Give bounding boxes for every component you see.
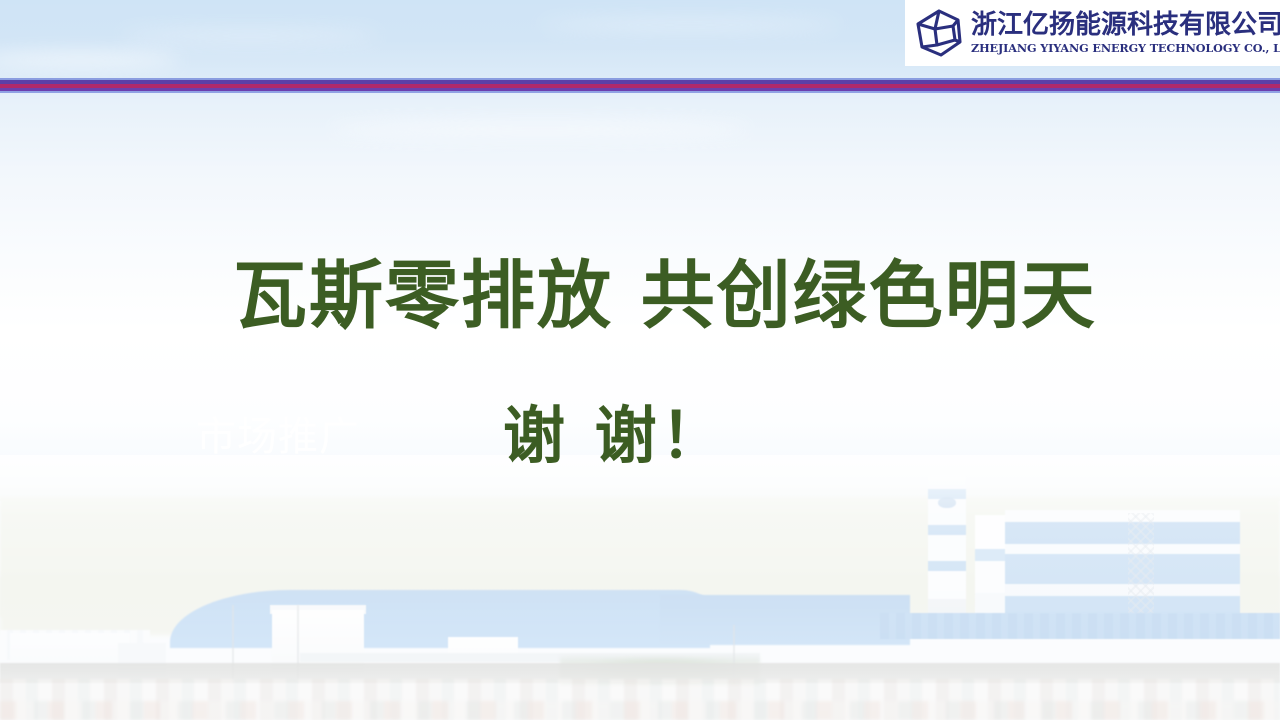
slide-canvas: 浙江亿扬能源科技有限公司 ZHEJIANG YIYANG ENERGY TECH… xyxy=(0,0,1280,720)
slide-title-main: 瓦斯零排放 共创绿色明天 xyxy=(233,259,1097,333)
lattice-tower xyxy=(1128,513,1154,629)
industrial-plant-photo xyxy=(0,455,1280,720)
conveyor-pipe-rack xyxy=(880,613,1280,639)
blue-factory-hall-secondary xyxy=(660,595,910,645)
cloud-wisp xyxy=(330,120,750,138)
company-name-cn: 浙江亿扬能源科技有限公司 xyxy=(971,12,1280,38)
company-name-group: 浙江亿扬能源科技有限公司 ZHEJIANG YIYANG ENERGY TECH… xyxy=(971,12,1280,54)
slide-title-thanks: 谢 谢！ xyxy=(503,405,727,467)
material-yard-foreground xyxy=(0,701,1280,720)
plant-main-building xyxy=(1005,510,1240,620)
stripe-blue-bottom xyxy=(0,91,1280,93)
striped-chimney-tower xyxy=(928,475,966,615)
cloud-wisp xyxy=(540,18,840,32)
watermark-text: 市场推广 xyxy=(196,404,360,462)
blue-factory-hall xyxy=(170,590,710,648)
hexagon-crystal-logo-icon xyxy=(913,7,965,59)
cloud-wisp xyxy=(120,30,380,42)
header-stripe-bar xyxy=(0,78,1280,93)
chimney-logo-mark xyxy=(938,497,956,508)
company-logo-panel: 浙江亿扬能源科技有限公司 ZHEJIANG YIYANG ENERGY TECH… xyxy=(905,0,1280,66)
company-name-en: ZHEJIANG YIYANG ENERGY TECHNOLOGY CO., L… xyxy=(971,43,1280,54)
